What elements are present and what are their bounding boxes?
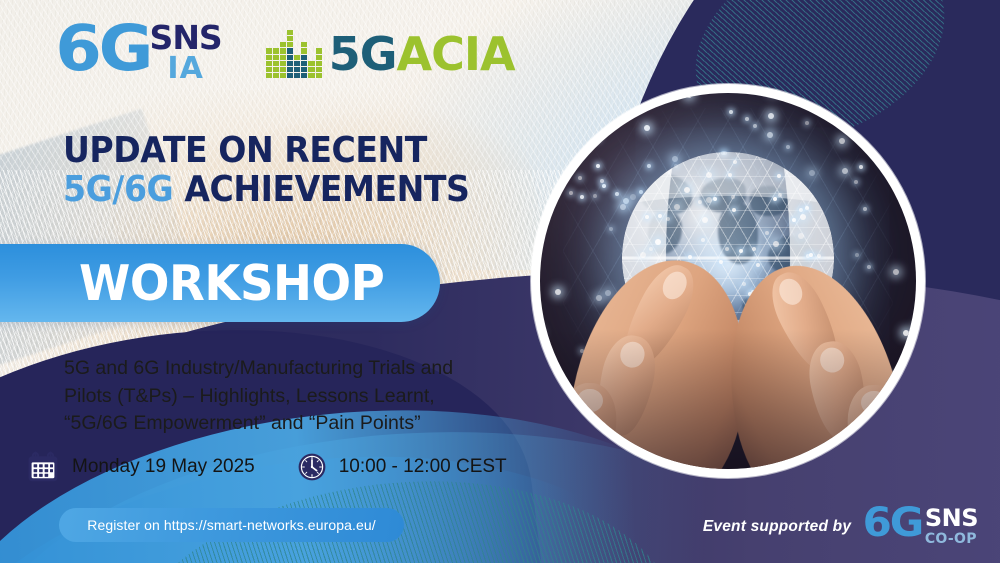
headline-highlight: 5G/6G <box>63 169 173 210</box>
logo-6g-mark: 6G <box>55 22 150 76</box>
register-button[interactable]: Register on https://smart-networks.europ… <box>59 508 404 542</box>
supported-by-label: Event supported by <box>703 518 851 536</box>
event-poster: 6G SNS IA 5GACIA UPDATE ON RECENT 5G/6G … <box>0 0 1000 563</box>
event-time: 10:00 - 12:00 CEST <box>297 452 507 482</box>
factory-dots-icon <box>266 30 322 78</box>
supported-by-block: Event supported by 6G SNS CO-OP <box>703 507 978 547</box>
logo-sns-stack: SNS IA <box>150 23 222 84</box>
coop-logo-coop: CO-OP <box>925 532 978 547</box>
headline-line-1: UPDATE ON RECENT <box>63 132 469 171</box>
headline-line-2-rest: ACHIEVEMENTS <box>173 169 469 210</box>
description-line-2: Pilots (T&Ps) – Highlights, Lessons Lear… <box>64 383 494 411</box>
event-description: 5G and 6G Industry/Manufacturing Trials … <box>64 355 494 438</box>
partner-logos: 6G SNS IA 5GACIA <box>58 22 515 84</box>
logo-acia-prefix: 5G <box>329 27 397 81</box>
logo-acia-suffix: ACIA <box>396 27 514 81</box>
calendar-icon <box>26 450 60 484</box>
workshop-banner: WORKSHOP <box>0 244 440 322</box>
event-date: Monday 19 May 2025 <box>26 450 255 484</box>
coop-logo-stack: SNS CO-OP <box>925 508 978 547</box>
hands-holding-network-globe-image <box>540 93 916 469</box>
logo-ia-text: IA <box>167 54 203 84</box>
description-line-1: 5G and 6G Industry/Manufacturing Trials … <box>64 355 494 383</box>
logo-acia-text: 5GACIA <box>329 31 515 77</box>
coop-logo-mark: 6G <box>863 507 923 541</box>
event-date-label: Monday 19 May 2025 <box>72 456 255 478</box>
workshop-banner-label: WORKSHOP <box>79 259 384 308</box>
description-line-3: “5G/6G Empowerment” and “Pain Points” <box>64 410 494 438</box>
logo-6g-sns-ia: 6G SNS IA <box>58 22 222 84</box>
coop-logo-sns: SNS <box>925 508 978 530</box>
page-title: UPDATE ON RECENT 5G/6G ACHIEVEMENTS <box>63 132 469 210</box>
clock-icon <box>297 452 327 482</box>
event-time-label: 10:00 - 12:00 CEST <box>339 456 507 478</box>
event-meta: Monday 19 May 2025 10:00 - 12:00 CEST <box>26 450 507 484</box>
hand-shadow <box>540 329 916 469</box>
hero-image-frame <box>531 84 925 478</box>
logo-6g-sns-coop: 6G SNS CO-OP <box>864 507 978 547</box>
headline-line-2: 5G/6G ACHIEVEMENTS <box>63 171 469 210</box>
register-button-label: Register on https://smart-networks.europ… <box>87 517 376 533</box>
logo-5g-acia: 5GACIA <box>266 30 515 78</box>
logo-sns-text: SNS <box>150 23 222 53</box>
